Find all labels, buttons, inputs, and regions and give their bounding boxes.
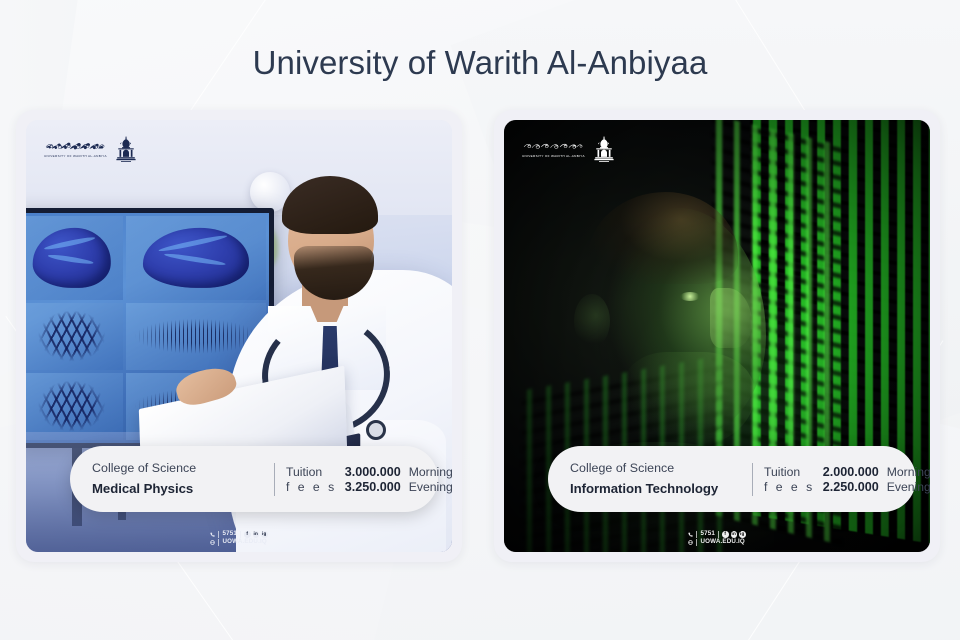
dna-helix-icon [31, 311, 112, 362]
footer-separator [240, 531, 241, 538]
linkedin-icon[interactable]: in [253, 531, 260, 538]
tuition-shift-morning: Morning [887, 465, 930, 479]
facebook-icon[interactable]: f [722, 531, 729, 538]
tuition-shift-evening: Evening [409, 480, 452, 494]
caption-tuition-table: Tuition 2.000.000 Morning f e e s 2.250.… [764, 465, 930, 494]
instagram-icon[interactable]: ig [739, 531, 746, 538]
globe-icon [210, 540, 215, 545]
arabic-calligraphy-icon [45, 140, 105, 153]
program-card-medical-physics[interactable]: UNIVERSITY OF WARITH AL-ANBIYA Co [16, 110, 462, 562]
logo-wordmark: UNIVERSITY OF WARITH AL-ANBIYA [522, 140, 585, 158]
card-caption-medical-physics[interactable]: College of Science Medical Physics Tuiti… [70, 446, 438, 512]
phone-icon [210, 532, 215, 537]
footer-phone-row[interactable]: 5751 f in ig [210, 531, 267, 538]
caption-divider [752, 463, 753, 496]
tuition-amount-evening: 3.250.000 [345, 480, 401, 494]
card-photo-information-technology: UNIVERSITY OF WARITH AL-ANBIYA College o… [504, 120, 930, 552]
instagram-icon[interactable]: ig [261, 531, 268, 538]
tuition-label-line2: f e e s [764, 480, 815, 494]
tuition-amount-evening: 2.250.000 [823, 480, 879, 494]
logo-subtitle: UNIVERSITY OF WARITH AL-ANBIYA [44, 154, 107, 158]
footer-contact-rows: 5751 f in ig [688, 531, 745, 546]
tuition-shift-morning: Morning [409, 465, 452, 479]
page-title: University of Warith Al-Anbiyaa [0, 44, 960, 82]
program-cards-row: UNIVERSITY OF WARITH AL-ANBIYA Co [0, 110, 960, 570]
card-footer-contact: 5751 f in ig [26, 531, 452, 546]
globe-icon [688, 540, 693, 545]
caption-major-name: Information Technology [570, 479, 752, 499]
footer-separator [218, 539, 219, 546]
tuition-label-line1: Tuition [764, 465, 815, 479]
scan-cell-dna-2 [26, 373, 123, 440]
caption-program-info: College of Science Information Technolog… [570, 459, 752, 498]
dna-helix-icon [31, 381, 112, 432]
shrine-dome-emblem-icon [594, 136, 614, 162]
tuition-label-line2: f e e s [286, 480, 337, 494]
scan-cell-brain-axial [26, 216, 123, 300]
phone-icon [688, 532, 693, 537]
caption-tuition-table: Tuition 3.000.000 Morning f e e s 3.250.… [286, 465, 452, 494]
scan-cell-dna-1 [26, 303, 123, 370]
logo-subtitle: UNIVERSITY OF WARITH AL-ANBIYA [522, 154, 585, 158]
shrine-dome-emblem-icon [116, 136, 136, 162]
brain-scan-icon [143, 228, 249, 288]
card-caption-information-technology[interactable]: College of Science Information Technolog… [548, 446, 916, 512]
linkedin-icon[interactable]: in [731, 531, 738, 538]
footer-website-url: UOWA.EDU.IQ [222, 539, 266, 545]
logo-wordmark: UNIVERSITY OF WARITH AL-ANBIYA [44, 140, 107, 158]
tuition-amount-morning: 3.000.000 [345, 465, 401, 479]
footer-separator [696, 531, 697, 538]
footer-separator [696, 539, 697, 546]
caption-major-name: Medical Physics [92, 479, 274, 499]
university-logo: UNIVERSITY OF WARITH AL-ANBIYA [522, 136, 614, 162]
footer-website-row[interactable]: UOWA.EDU.IQ [210, 539, 267, 546]
facebook-icon[interactable]: f [244, 531, 251, 538]
footer-contact-rows: 5751 f in ig [210, 531, 267, 546]
arabic-calligraphy-icon [523, 140, 583, 153]
card-footer-contact: 5751 f in ig [504, 531, 930, 546]
scan-cell-brain-sagittal [126, 216, 266, 300]
stethoscope-bell-icon [366, 420, 386, 440]
caption-college-name: College of Science [570, 459, 752, 478]
footer-phone-number: 5751 [700, 531, 715, 537]
footer-phone-row[interactable]: 5751 f in ig [688, 531, 745, 538]
footer-separator [218, 531, 219, 538]
tuition-label-line1: Tuition [286, 465, 337, 479]
footer-social-links[interactable]: f in ig [244, 531, 268, 538]
waveform-icon [135, 318, 258, 356]
brain-scan-icon [32, 228, 111, 288]
footer-social-links[interactable]: f in ig [722, 531, 746, 538]
card-photo-medical: UNIVERSITY OF WARITH AL-ANBIYA Co [26, 120, 452, 552]
caption-program-info: College of Science Medical Physics [92, 459, 274, 498]
caption-college-name: College of Science [92, 459, 274, 478]
university-logo: UNIVERSITY OF WARITH AL-ANBIYA [44, 136, 136, 162]
lab-wall [26, 120, 452, 215]
program-card-information-technology[interactable]: UNIVERSITY OF WARITH AL-ANBIYA College o… [494, 110, 940, 562]
footer-phone-number: 5751 [222, 531, 237, 537]
tuition-shift-evening: Evening [887, 480, 930, 494]
footer-separator [718, 531, 719, 538]
footer-website-url: UOWA.EDU.IQ [700, 539, 744, 545]
caption-divider [274, 463, 275, 496]
footer-website-row[interactable]: UOWA.EDU.IQ [688, 539, 745, 546]
tuition-amount-morning: 2.000.000 [823, 465, 879, 479]
